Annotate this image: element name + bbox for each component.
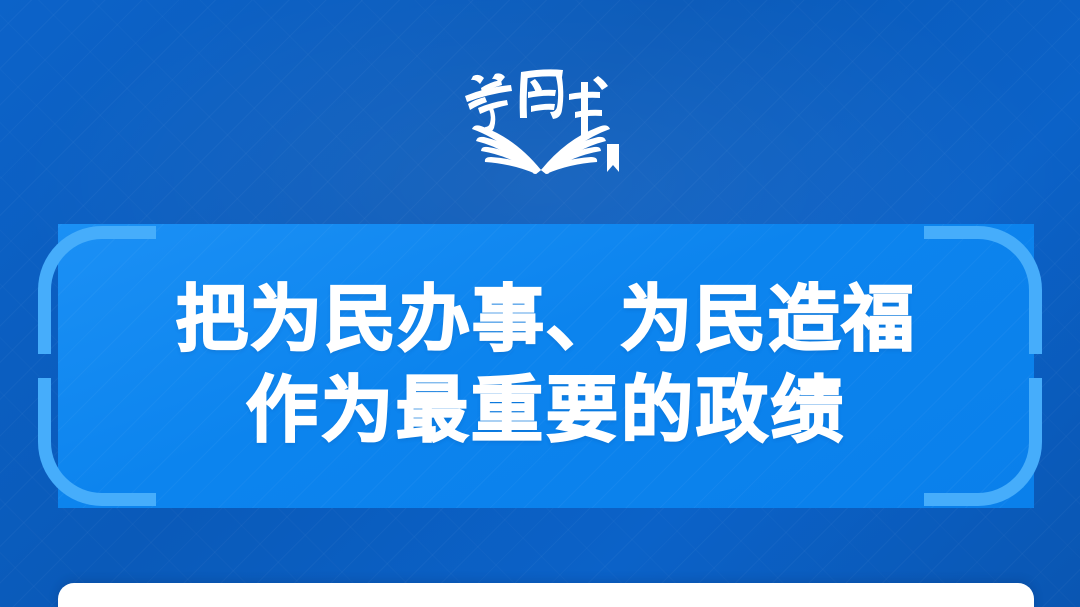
- headline-line-1: 把为民办事、为民造福: [176, 278, 916, 363]
- logo-glyph-xue: [465, 73, 512, 133]
- bottom-content-card: [58, 583, 1034, 607]
- headline-line-2: 作为最重要的政绩: [246, 369, 846, 454]
- logo-book-left-pages: [472, 125, 541, 174]
- logo-bookmark: [607, 144, 619, 172]
- headline-banner: 把为民办事、为民造福 作为最重要的政绩: [58, 224, 1034, 508]
- logo-book-right-pages: [541, 125, 610, 174]
- logo-glyph-xi: [520, 69, 564, 119]
- poster-canvas: 把为民办事、为民造福 作为最重要的政绩: [0, 0, 1080, 607]
- brand-logo: [435, 48, 645, 174]
